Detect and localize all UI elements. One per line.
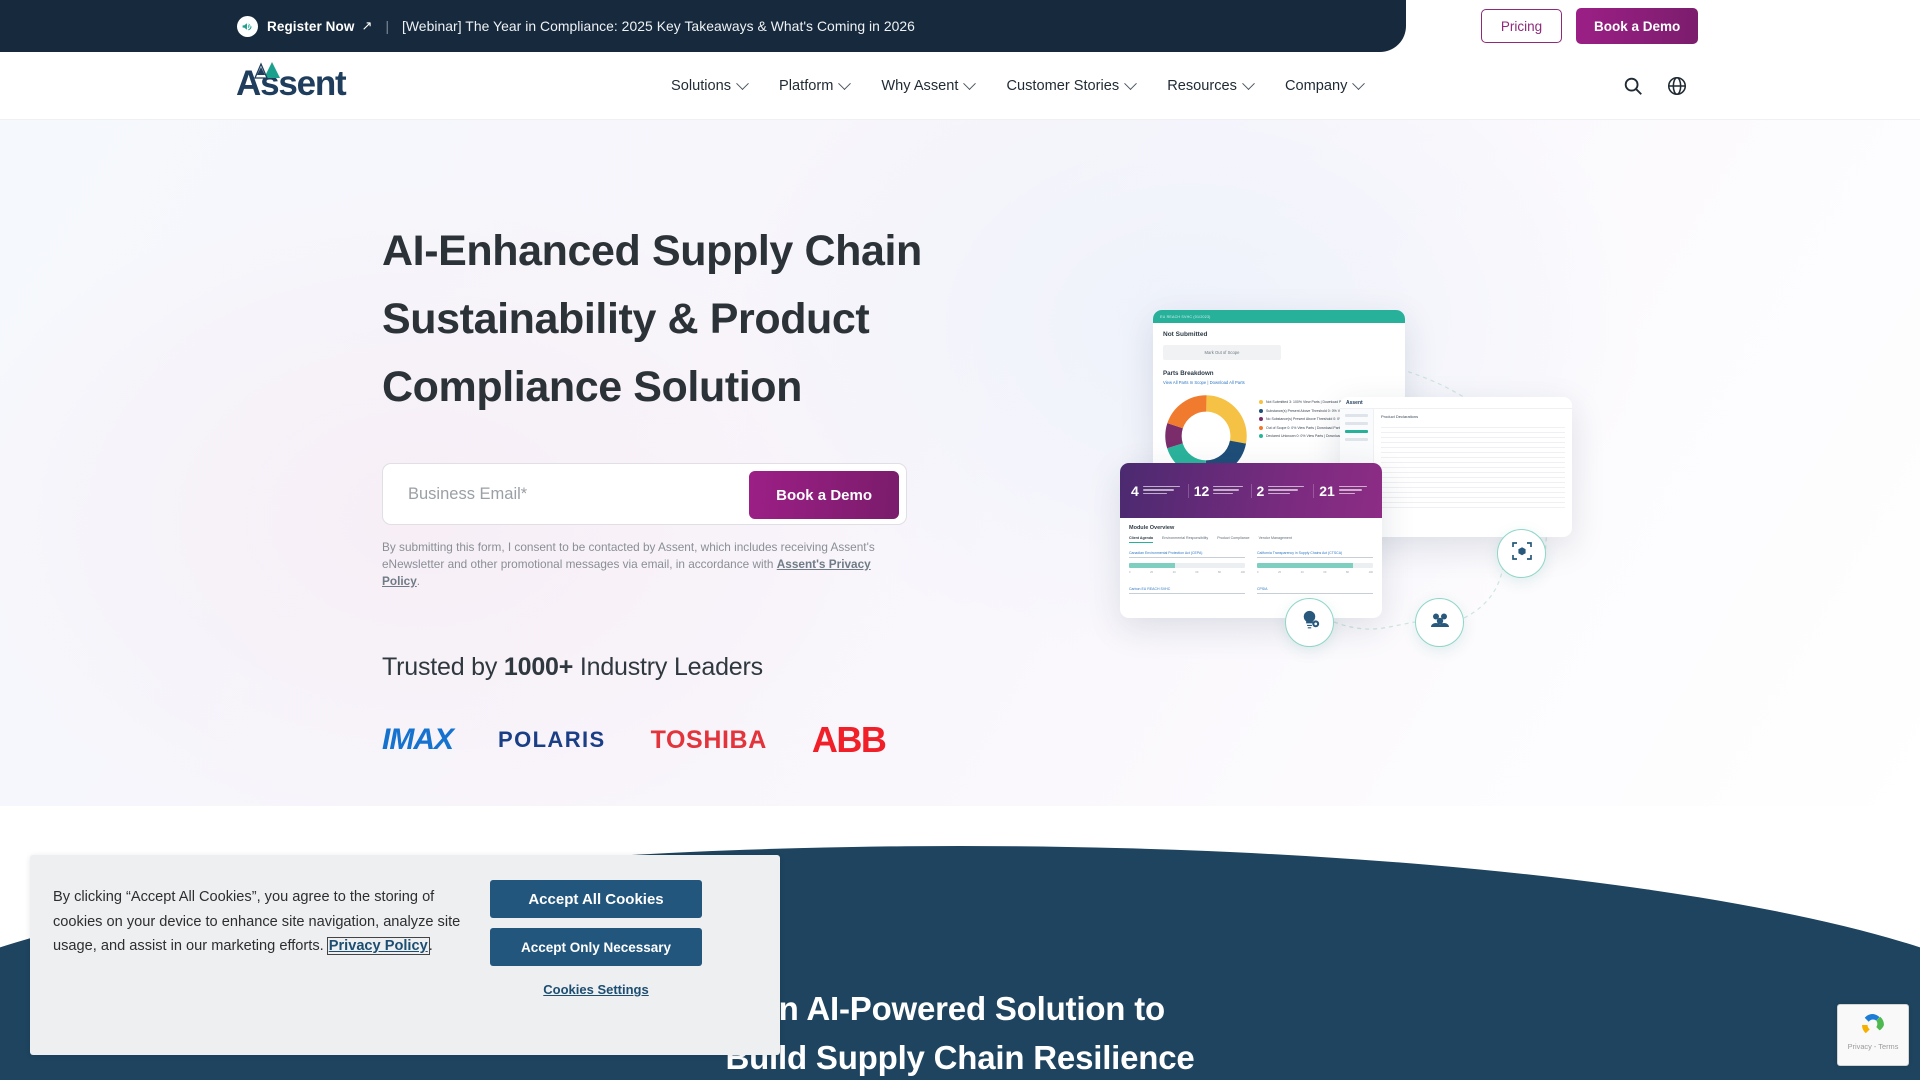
announcement-bar-wrapper: Register Now ↗ | [Webinar] The Year in C…: [0, 0, 1920, 52]
dashboard-b-table: Product Declarations: [1374, 409, 1572, 537]
nav-item-label: Resources: [1167, 78, 1237, 94]
hero-content: AI-Enhanced Supply Chain Sustainability …: [382, 217, 942, 760]
recaptcha-badge[interactable]: Privacy - Terms: [1837, 1004, 1909, 1066]
chevron-down-icon: [736, 77, 749, 90]
dashboard-c-stats-banner: 4 12 2 21: [1120, 463, 1382, 518]
nav-item-customer-stories[interactable]: Customer Stories: [990, 52, 1151, 120]
cookie-banner-actions: Accept All Cookies Accept Only Necessary…: [490, 855, 702, 997]
dashboard-a-titlebar: EU REACH SVHC (01/2023): [1153, 310, 1405, 323]
dashboard-a-title: EU REACH SVHC (01/2023): [1160, 315, 1211, 319]
logo-abb: ABB: [812, 719, 886, 761]
stat-cell: 2: [1252, 484, 1315, 498]
announcement-separator: |: [385, 19, 389, 34]
stat-value: 12: [1194, 484, 1210, 498]
chevron-down-icon: [1242, 77, 1255, 90]
dashboard-b-logo: Assent: [1346, 400, 1363, 406]
tab-product-compliance[interactable]: Product Compliance: [1217, 536, 1249, 543]
page-title: AI-Enhanced Supply Chain Sustainability …: [382, 217, 942, 421]
nav-item-platform[interactable]: Platform: [763, 52, 865, 120]
trusted-pre: Trusted by: [382, 653, 504, 681]
module-row-name: Canadian Environmental Protection Act (C…: [1129, 551, 1245, 558]
stat-value: 4: [1131, 484, 1139, 498]
search-icon[interactable]: [1622, 75, 1644, 97]
stat-cell: 21: [1314, 484, 1376, 498]
top-actions: Pricing Book a Demo: [1406, 0, 1920, 52]
legend-label: Not Submitted 3: 100% View Parts | Downl…: [1266, 399, 1347, 406]
accept-only-necessary-button[interactable]: Accept Only Necessary: [490, 928, 702, 966]
trusted-post: Industry Leaders: [573, 653, 763, 681]
module-row-name: Carbon EU REACH SVHC: [1129, 587, 1245, 594]
dashboard-a-heading: Not Submitted: [1163, 331, 1395, 338]
recaptcha-icon: [1859, 1011, 1887, 1039]
register-now-label: Register Now: [267, 19, 354, 34]
book-a-demo-button-hero[interactable]: Book a Demo: [749, 471, 899, 519]
recaptcha-terms-link[interactable]: Terms: [1878, 1042, 1898, 1051]
module-overview-title: Module Overview: [1129, 525, 1373, 531]
module-row: California Transparency in Supply Chains…: [1257, 551, 1373, 574]
nav-links: Solutions Platform Why Assent Customer S…: [655, 52, 1379, 120]
nav-item-why-assent[interactable]: Why Assent: [865, 52, 990, 120]
people-icon: [1428, 608, 1452, 637]
announcement-text: [Webinar] The Year in Compliance: 2025 K…: [402, 18, 915, 34]
globe-icon[interactable]: [1666, 75, 1688, 97]
register-now-link[interactable]: Register Now ↗: [267, 18, 372, 34]
megaphone-icon: [237, 16, 258, 37]
node-cube-scan: [1497, 529, 1546, 578]
logo-toshiba: TOSHIBA: [651, 726, 767, 755]
hero-section: AI-Enhanced Supply Chain Sustainability …: [0, 120, 1920, 806]
logo-imax: IMAX: [382, 723, 453, 757]
tab-environmental[interactable]: Environmental Responsibility: [1162, 536, 1208, 543]
cube-scan-icon: [1510, 539, 1534, 568]
nav-item-resources[interactable]: Resources: [1151, 52, 1269, 120]
stat-cell: 4: [1126, 484, 1189, 498]
nav-item-solutions[interactable]: Solutions: [655, 52, 763, 120]
disclaimer-text-post: .: [417, 574, 420, 588]
assent-logo[interactable]: Assent: [236, 60, 381, 108]
form-disclaimer: By submitting this form, I consent to be…: [382, 539, 910, 590]
accept-all-cookies-button[interactable]: Accept All Cookies: [490, 880, 702, 918]
node-lightbulb: [1285, 598, 1334, 647]
chevron-down-icon: [1124, 77, 1137, 90]
progress-bar: [1257, 563, 1373, 568]
main-navigation: Assent Solutions Platform Why Assent Cus…: [0, 52, 1920, 120]
assent-logo-mark-icon: [252, 61, 288, 81]
legend-label: Declared Unknown 0: 0% View Parts | Down…: [1266, 433, 1351, 440]
chevron-down-icon: [839, 77, 852, 90]
nav-icons: [1622, 52, 1688, 120]
module-row-name: CPSIA: [1257, 587, 1373, 594]
chevron-down-icon: [1353, 77, 1366, 90]
customer-logos: IMAX POLARIS TOSHIBA ABB: [382, 720, 942, 760]
mark-out-of-scope-button[interactable]: Mark Out of Scope: [1163, 345, 1281, 360]
hero-email-form: Book a Demo: [382, 463, 907, 525]
recaptcha-text: Privacy - Terms: [1848, 1042, 1899, 1051]
nav-item-company[interactable]: Company: [1269, 52, 1379, 120]
legend-label: Out of Scope 0: 0% View Parts | Download…: [1266, 425, 1342, 432]
recaptcha-privacy-link[interactable]: Privacy: [1848, 1042, 1872, 1051]
nav-item-label: Customer Stories: [1006, 78, 1119, 94]
lightbulb-gear-icon: [1298, 609, 1321, 637]
dashboard-b-header: Assent: [1340, 397, 1572, 409]
trusted-by-heading: Trusted by 1000+ Industry Leaders: [382, 653, 942, 682]
cookie-text-post: .: [429, 938, 433, 954]
nav-item-label: Why Assent: [881, 78, 958, 94]
cookie-consent-banner: By clicking “Accept All Cookies”, you ag…: [30, 855, 780, 1055]
stat-value: 21: [1319, 484, 1335, 498]
parts-breakdown-links[interactable]: View All Parts In Scope | Download All P…: [1163, 380, 1395, 385]
stat-cell: 12: [1189, 484, 1252, 498]
trusted-count: 1000+: [504, 653, 573, 681]
hero-illustration: EU REACH SVHC (01/2023) Not Submitted Ma…: [1085, 275, 1645, 795]
module-row: Canadian Environmental Protection Act (C…: [1129, 551, 1245, 574]
module-row-name: California Transparency in Supply Chains…: [1257, 551, 1373, 558]
parts-breakdown-title: Parts Breakdown: [1163, 370, 1395, 377]
book-a-demo-button-top[interactable]: Book a Demo: [1576, 8, 1698, 44]
tab-client-agenda[interactable]: Client Agenda: [1129, 536, 1153, 543]
nav-item-label: Solutions: [671, 78, 731, 94]
announcement-bar: Register Now ↗ | [Webinar] The Year in C…: [0, 0, 1406, 52]
pricing-button[interactable]: Pricing: [1481, 9, 1562, 43]
cookie-privacy-policy-link[interactable]: Privacy Policy: [328, 938, 429, 954]
dashboard-card-overview: 4 12 2 21 Module Overview: [1120, 463, 1382, 618]
chevron-down-icon: [964, 77, 977, 90]
logo-polaris: POLARIS: [498, 727, 606, 753]
tab-vendor-management[interactable]: Vendor Management: [1259, 536, 1292, 543]
node-people: [1415, 598, 1464, 647]
external-arrow-icon: ↗: [361, 18, 372, 34]
dashboard-b-title: Product Declarations: [1381, 414, 1565, 419]
cookie-banner-text: By clicking “Accept All Cookies”, you ag…: [30, 855, 480, 959]
progress-bar: [1129, 563, 1245, 568]
module-tabs: Client Agenda Environmental Responsibili…: [1129, 536, 1373, 543]
nav-item-label: Platform: [779, 78, 833, 94]
stat-value: 2: [1257, 484, 1265, 498]
cookies-settings-link[interactable]: Cookies Settings: [543, 982, 648, 997]
nav-item-label: Company: [1285, 78, 1347, 94]
